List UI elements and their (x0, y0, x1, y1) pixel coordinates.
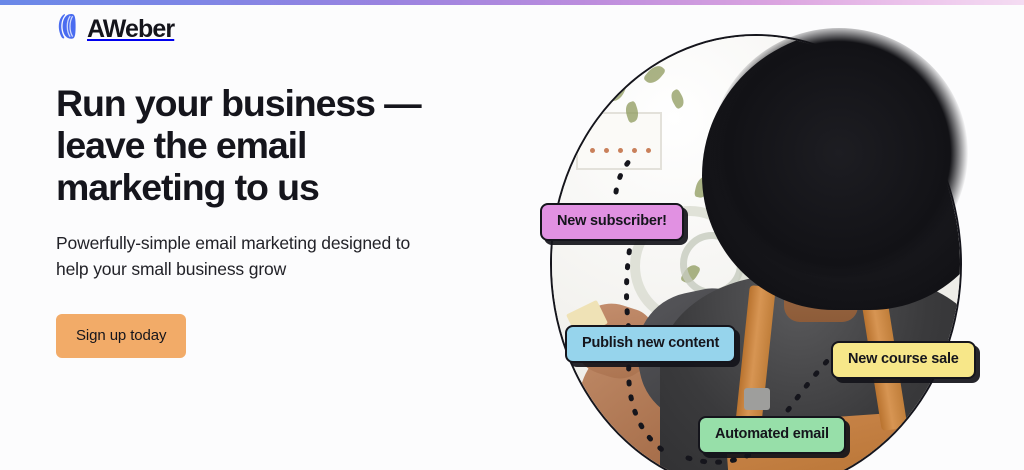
logo-wordmark: AWeber (87, 17, 174, 42)
photo-strap-buckle (744, 388, 770, 410)
pill-publish-new-content[interactable]: Publish new content (565, 325, 736, 363)
pill-automated-email[interactable]: Automated email (698, 416, 846, 454)
photo-overall-button (886, 444, 899, 457)
hero-section: AWeber Run your business — leave the ema… (0, 0, 1024, 470)
photo-wall-frame (576, 112, 662, 170)
pill-new-subscriber[interactable]: New subscriber! (540, 203, 684, 241)
hero-photo-circle (550, 34, 962, 470)
hero-subheadline: Powerfully-simple email marketing design… (56, 230, 446, 282)
sign-up-today-button[interactable]: Sign up today (56, 314, 186, 358)
hero-text-column: AWeber Run your business — leave the ema… (56, 14, 496, 358)
aweber-swoosh-icon (56, 13, 86, 45)
page-title: Run your business — leave the email mark… (56, 82, 456, 208)
hero-illustration: New subscriber! Publish new content New … (520, 0, 1024, 470)
pill-new-course-sale[interactable]: New course sale (831, 341, 976, 379)
top-gradient-bar (0, 0, 1024, 5)
aweber-logo[interactable]: AWeber (56, 14, 496, 44)
